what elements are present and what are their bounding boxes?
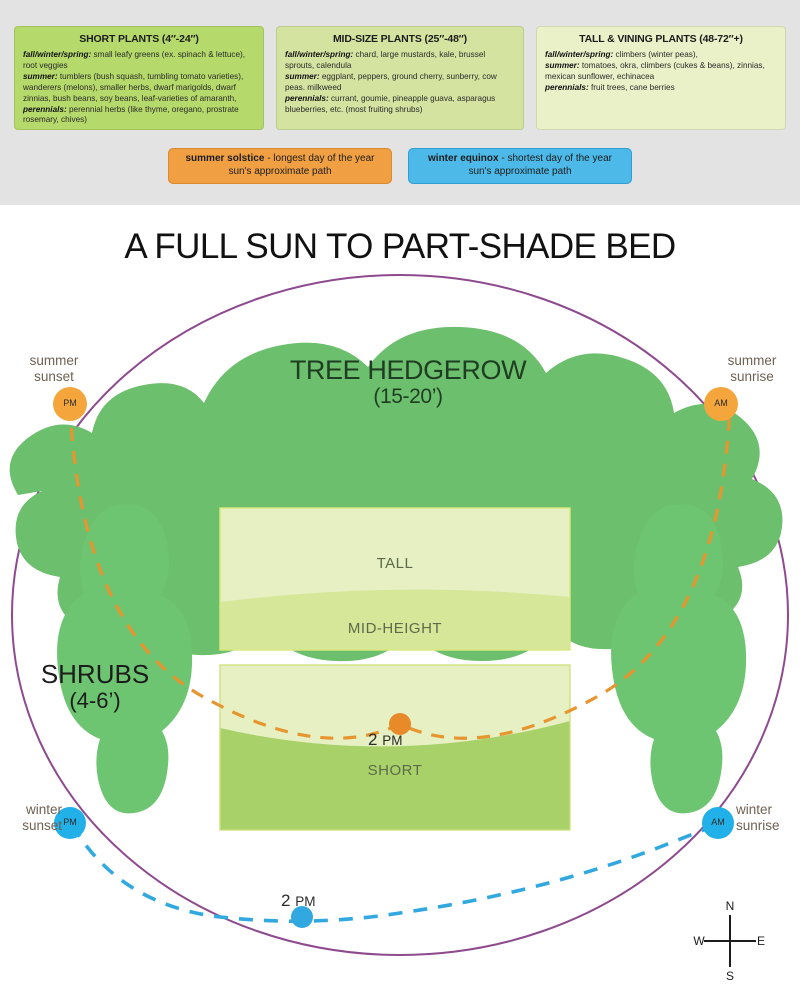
winter-sunset-label: winter sunset	[2, 802, 62, 833]
legend-key-name: summer solstice	[185, 153, 264, 164]
summer-sunset-line2: sunset	[14, 369, 94, 385]
plant-legend-title: SHORT PLANTS (4″-24″)	[23, 33, 255, 45]
plant-category-label: summer:	[285, 72, 320, 81]
plant-legend-box-tall-vining: TALL & VINING PLANTS (48-72″+) fall/wint…	[536, 26, 786, 130]
plant-legend-line: fall/winter/spring: climbers (winter pea…	[545, 50, 777, 61]
shrubs-label: SHRUBS (4-6’)	[20, 660, 170, 713]
plant-legend-line: perennials: perennial herbs (like thyme,…	[23, 105, 255, 127]
plant-category-label: perennials:	[23, 105, 67, 114]
legend-key-sub: sun's approximate path	[468, 166, 571, 177]
summer-sun-time-label: 2 PM	[368, 730, 402, 750]
plant-legend-line: fall/winter/spring: chard, large mustard…	[285, 50, 515, 72]
plant-legend-line: summer: tumblers (bush squash, tumbling …	[23, 72, 255, 105]
plant-category-label: fall/winter/spring:	[23, 50, 91, 59]
legend-key-desc: - shortest day of the year	[499, 153, 612, 164]
winter-sunset-line1: winter	[2, 802, 62, 818]
plant-category-text: climbers (winter peas),	[613, 50, 698, 59]
winter-sunrise-label: winter sunrise	[736, 802, 798, 833]
summer-sunset-marker	[53, 387, 87, 421]
summer-sunrise-line2: sunrise	[712, 369, 792, 385]
plant-legend-body: fall/winter/spring: chard, large mustard…	[285, 50, 515, 115]
legend-key-winter-equinox: winter equinox - shortest day of the yea…	[408, 148, 632, 184]
plant-legend-title: MID-SIZE PLANTS (25″-48″)	[285, 33, 515, 45]
legend-key-text: winter equinox - shortest day of the yea…	[428, 153, 612, 179]
plant-legend-body: fall/winter/spring: small leafy greens (…	[23, 50, 255, 126]
diagram-graphics	[0, 205, 800, 996]
plant-category-label: perennials:	[285, 94, 329, 103]
legend-key-sub: sun's approximate path	[228, 166, 331, 177]
plant-legend-body: fall/winter/spring: climbers (winter pea…	[545, 50, 777, 94]
infographic-page: SHORT PLANTS (4″-24″) fall/winter/spring…	[0, 0, 800, 996]
summer-sunrise-label: summer sunrise	[712, 353, 792, 384]
legend-key-summer-solstice: summer solstice - longest day of the yea…	[168, 148, 392, 184]
plant-legend-line: fall/winter/spring: small leafy greens (…	[23, 50, 255, 72]
compass-south-label: S	[723, 969, 737, 983]
garden-bed-diagram: A FULL SUN TO PART-SHADE BED TREE HEDGER…	[0, 205, 800, 996]
legend-key-name: winter equinox	[428, 153, 499, 164]
winter-sunrise-line2: sunrise	[736, 818, 798, 834]
compass-north-label: N	[723, 899, 737, 913]
plant-legend-line: summer: eggplant, peppers, ground cherry…	[285, 72, 515, 94]
winter-sunrise-marker	[702, 807, 734, 839]
summer-sunrise-marker	[704, 387, 738, 421]
plant-category-label: summer:	[23, 72, 58, 81]
tree-hedgerow-name: TREE HEDGEROW	[290, 355, 526, 385]
plant-category-label: fall/winter/spring:	[545, 50, 613, 59]
winter-sunset-line2: sunset	[2, 818, 62, 834]
winter-sun-time-label: 2 PM	[281, 891, 315, 911]
bed-zone-label-tall: TALL	[215, 555, 575, 572]
bed-zone-label-short: SHORT	[215, 762, 575, 779]
plant-legend-line: perennials: currant, goumie, pineapple g…	[285, 94, 515, 116]
compass-west-label: W	[692, 934, 706, 948]
winter-sun-hour: 2	[281, 891, 290, 910]
bed-zone-label-mid-height: MID-HEIGHT	[215, 620, 575, 637]
legend-key-desc: - longest day of the year	[264, 153, 374, 164]
plant-legend-line: perennials: fruit trees, cane berries	[545, 83, 777, 94]
winter-sunrise-line1: winter	[736, 802, 798, 818]
plant-category-label: summer:	[545, 61, 580, 70]
summer-sun-meridiem: PM	[382, 733, 402, 748]
legend-key-text: summer solstice - longest day of the yea…	[185, 153, 374, 179]
tree-hedgerow-label: TREE HEDGEROW (15-20’)	[268, 355, 548, 409]
summer-sun-hour: 2	[368, 730, 377, 749]
plant-legend-box-short: SHORT PLANTS (4″-24″) fall/winter/spring…	[14, 26, 264, 130]
page-title: A FULL SUN TO PART-SHADE BED	[0, 227, 800, 267]
winter-sun-meridiem: PM	[295, 894, 315, 909]
shrubs-height: (4-6’)	[20, 689, 170, 713]
legend-band: SHORT PLANTS (4″-24″) fall/winter/spring…	[0, 0, 800, 205]
tree-hedgerow-height: (15-20’)	[268, 385, 548, 409]
compass-east-label: E	[754, 934, 768, 948]
compass-rose	[704, 915, 756, 967]
plant-category-label: fall/winter/spring:	[285, 50, 353, 59]
plant-category-label: perennials:	[545, 83, 589, 92]
shrubs-name: SHRUBS	[41, 659, 149, 689]
winter-equinox-path	[72, 821, 726, 921]
summer-sunset-line1: summer	[14, 353, 94, 369]
plant-legend-title: TALL & VINING PLANTS (48-72″+)	[545, 33, 777, 45]
plant-legend-box-mid-size: MID-SIZE PLANTS (25″-48″) fall/winter/sp…	[276, 26, 524, 130]
plant-legend-line: summer: tomatoes, okra, climbers (cukes …	[545, 61, 777, 83]
summer-sunset-label: summer sunset	[14, 353, 94, 384]
summer-sunrise-line1: summer	[712, 353, 792, 369]
plant-category-text: fruit trees, cane berries	[589, 83, 675, 92]
